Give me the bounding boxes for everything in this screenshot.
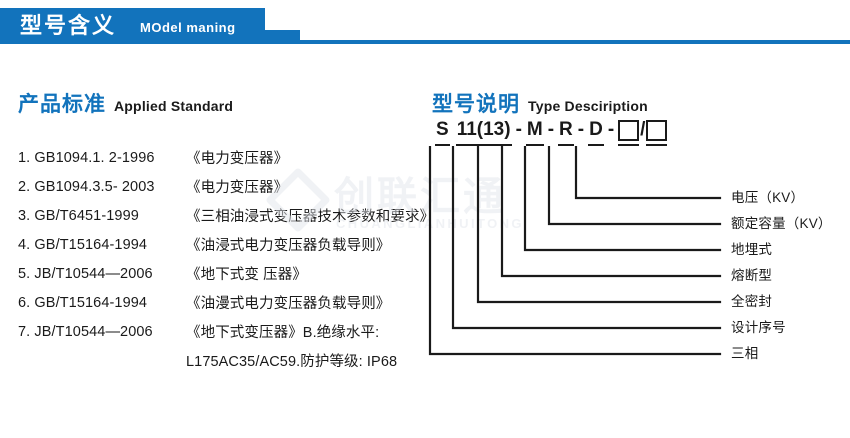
standard-continuation-row: L175AC35/AC59.防护等级: IP68 — [18, 346, 418, 375]
banner-title-english: MOdel maning — [140, 19, 236, 36]
code-box-voltage-wrap — [646, 118, 667, 146]
standard-code: 5. JB/T10544—2006 — [18, 266, 186, 282]
standard-title: 《油浸式电力变压器负载导则》 — [186, 234, 390, 255]
code-token-r: R — [558, 118, 574, 146]
standard-title: 《地下式变 压器》 — [186, 263, 307, 284]
standard-title: 《三相油浸式变压器技术参数和要求》 — [186, 205, 434, 226]
standard-title: 《电力变压器》 — [186, 176, 288, 197]
diagram-label-voltage: 电压（KV） — [731, 190, 804, 206]
code-separator: - — [512, 118, 526, 142]
standard-code: 7. JB/T10544—2006 — [18, 324, 186, 340]
code-box-capacity-wrap — [618, 118, 639, 146]
model-code-diagram: S 11(13) - M - R - D - / — [425, 118, 850, 368]
banner-title-chinese: 型号含义 — [20, 11, 116, 41]
standard-code: 1. GB1094.1. 2-1996 — [18, 150, 186, 166]
standard-row: 4. GB/T15164-1994 《油浸式电力变压器负载导则》 — [18, 230, 418, 259]
code-slash: / — [639, 118, 646, 142]
banner-underline-rule — [0, 40, 850, 44]
standard-continuation-text: L175AC35/AC59.防护等级: IP68 — [186, 350, 397, 371]
page-header-banner: 型号含义 MOdel maning — [0, 0, 850, 52]
standards-heading-chinese: 产品标准 — [18, 93, 106, 116]
diagram-label-design-serial: 设计序号 — [731, 320, 786, 336]
type-section-heading: 型号说明Type Desciription — [432, 88, 648, 118]
standard-row: 1. GB1094.1. 2-1996 《电力变压器》 — [18, 143, 418, 172]
diagram-label-three-phase: 三相 — [731, 346, 758, 362]
leader-lines — [425, 146, 850, 364]
standard-row: 3. GB/T6451-1999 《三相油浸式变压器技术参数和要求》 — [18, 201, 418, 230]
standards-section-heading: 产品标准Applied Standard — [18, 88, 233, 118]
standard-title: 《地下式变压器》B.绝缘水平: — [186, 321, 379, 342]
standards-list: 1. GB1094.1. 2-1996 《电力变压器》 2. GB1094.3.… — [18, 143, 418, 375]
standard-row: 7. JB/T10544—2006 《地下式变压器》B.绝缘水平: — [18, 317, 418, 346]
diagram-label-fully-sealed: 全密封 — [731, 294, 772, 310]
standard-row: 6. GB/T15164-1994 《油漫式电力变压器负载导则》 — [18, 288, 418, 317]
standard-code: 3. GB/T6451-1999 — [18, 208, 186, 224]
standard-code: 2. GB1094.3.5- 2003 — [18, 179, 186, 195]
code-separator: - — [544, 118, 558, 142]
code-separator: - — [574, 118, 588, 142]
standard-row: 2. GB1094.3.5- 2003 《电力变压器》 — [18, 172, 418, 201]
type-heading-english: Type Desciription — [528, 98, 648, 114]
diagram-label-buried-type: 地埋式 — [731, 242, 772, 258]
standard-row: 5. JB/T10544—2006 《地下式变 压器》 — [18, 259, 418, 288]
code-token-m: M — [526, 118, 544, 146]
standard-code: 4. GB/T15164-1994 — [18, 237, 186, 253]
code-token-d: D — [588, 118, 604, 146]
type-heading-chinese: 型号说明 — [432, 93, 520, 116]
code-token-s: S — [435, 118, 450, 146]
standards-heading-english: Applied Standard — [114, 98, 233, 114]
standard-title: 《油漫式电力变压器负载导则》 — [186, 292, 390, 313]
standard-code: 6. GB/T15164-1994 — [18, 295, 186, 311]
code-token-series: 11(13) — [456, 118, 512, 146]
diagram-label-rated-capacity: 额定容量（KV） — [731, 216, 832, 232]
code-box-capacity — [618, 120, 639, 141]
code-box-voltage — [646, 120, 667, 141]
code-separator: - — [604, 118, 618, 142]
diagram-label-fuse-type: 熔断型 — [731, 268, 772, 284]
standard-title: 《电力变压器》 — [186, 147, 288, 168]
